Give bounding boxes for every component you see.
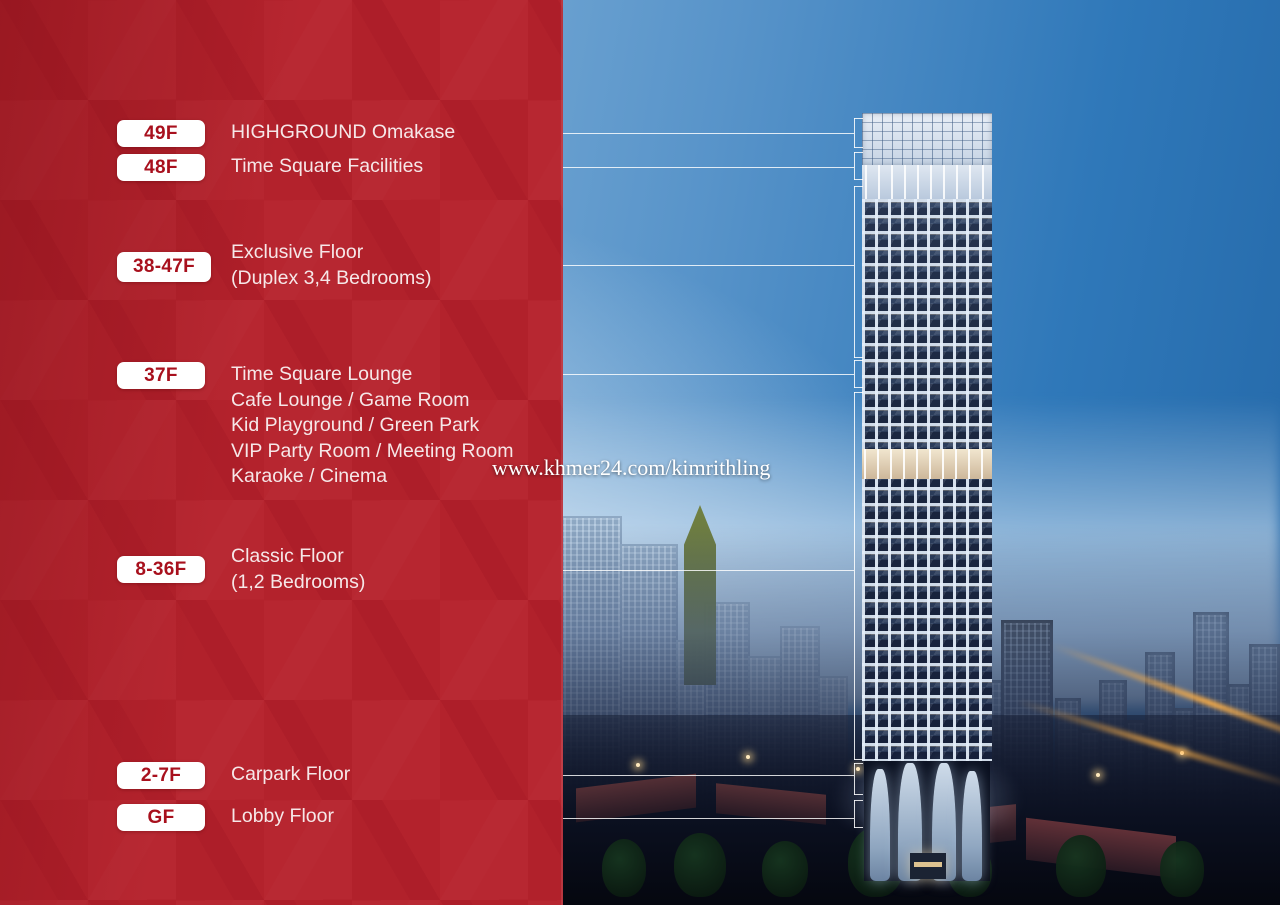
tower-hex-overlay: [862, 199, 992, 761]
floor-badge-gf: GF: [117, 804, 205, 831]
tower-skybar-level: [862, 165, 992, 199]
tower-facade: [862, 199, 992, 761]
floor-badge-37f: 37F: [117, 362, 205, 389]
tower-entrance: [910, 853, 946, 879]
floor-label-line: Time Square Facilities: [231, 155, 423, 177]
floor-guide-infographic: 49F HIGHGROUND Omakase 48F Time Square F…: [0, 0, 1280, 905]
floor-label-line: (Duplex 3,4 Bedrooms): [231, 266, 432, 292]
floor-label-line: Lobby Floor: [231, 805, 334, 827]
tower-crown: [862, 113, 992, 165]
tower-podium: [864, 761, 990, 881]
floor-label-8-36f: Classic Floor (1,2 Bedrooms): [231, 544, 365, 595]
floor-label-line: Classic Floor: [231, 544, 365, 570]
floor-label-49f: HIGHGROUND Omakase: [231, 120, 455, 146]
floor-row-48f[interactable]: 48F Time Square Facilities: [117, 154, 423, 181]
floor-row-38-47f[interactable]: 38-47F Exclusive Floor (Duplex 3,4 Bedro…: [117, 240, 432, 291]
floor-label-line: Cafe Lounge / Game Room: [231, 388, 514, 414]
red-info-panel: 49F HIGHGROUND Omakase 48F Time Square F…: [0, 0, 563, 905]
floor-row-49f[interactable]: 49F HIGHGROUND Omakase: [117, 120, 455, 147]
floor-label-line: Time Square Lounge: [231, 362, 514, 388]
floor-row-37f[interactable]: 37F Time Square Lounge Cafe Lounge / Gam…: [117, 362, 514, 490]
floor-label-line: VIP Party Room / Meeting Room: [231, 439, 514, 465]
floor-label-line: (1,2 Bedrooms): [231, 570, 365, 596]
floor-label-2-7f: Carpark Floor: [231, 762, 350, 788]
floor-row-2-7f[interactable]: 2-7F Carpark Floor: [117, 762, 350, 789]
tower-sky-lounge-band: [862, 449, 992, 479]
floor-row-gf[interactable]: GF Lobby Floor: [117, 804, 334, 831]
floor-label-37f: Time Square Lounge Cafe Lounge / Game Ro…: [231, 362, 514, 490]
floor-label-line: Karaoke / Cinema: [231, 464, 514, 490]
floor-badge-38-47f: 38-47F: [117, 252, 211, 282]
floor-label-line: Exclusive Floor: [231, 240, 432, 266]
floor-badge-49f: 49F: [117, 120, 205, 147]
floor-badge-2-7f: 2-7F: [117, 762, 205, 789]
panel-edge: [561, 0, 563, 905]
floor-label-line: HIGHGROUND Omakase: [231, 121, 455, 143]
floor-label-gf: Lobby Floor: [231, 804, 334, 830]
floor-label-line: Kid Playground / Green Park: [231, 413, 514, 439]
floor-label-38-47f: Exclusive Floor (Duplex 3,4 Bedrooms): [231, 240, 432, 291]
floor-badge-48f: 48F: [117, 154, 205, 181]
main-tower: [862, 113, 992, 788]
watermark: www.khmer24.com/kimrithling: [492, 455, 770, 481]
floor-label-line: Carpark Floor: [231, 763, 350, 785]
floor-row-8-36f[interactable]: 8-36F Classic Floor (1,2 Bedrooms): [117, 544, 365, 595]
floor-label-48f: Time Square Facilities: [231, 154, 423, 180]
floor-badge-8-36f: 8-36F: [117, 556, 205, 583]
